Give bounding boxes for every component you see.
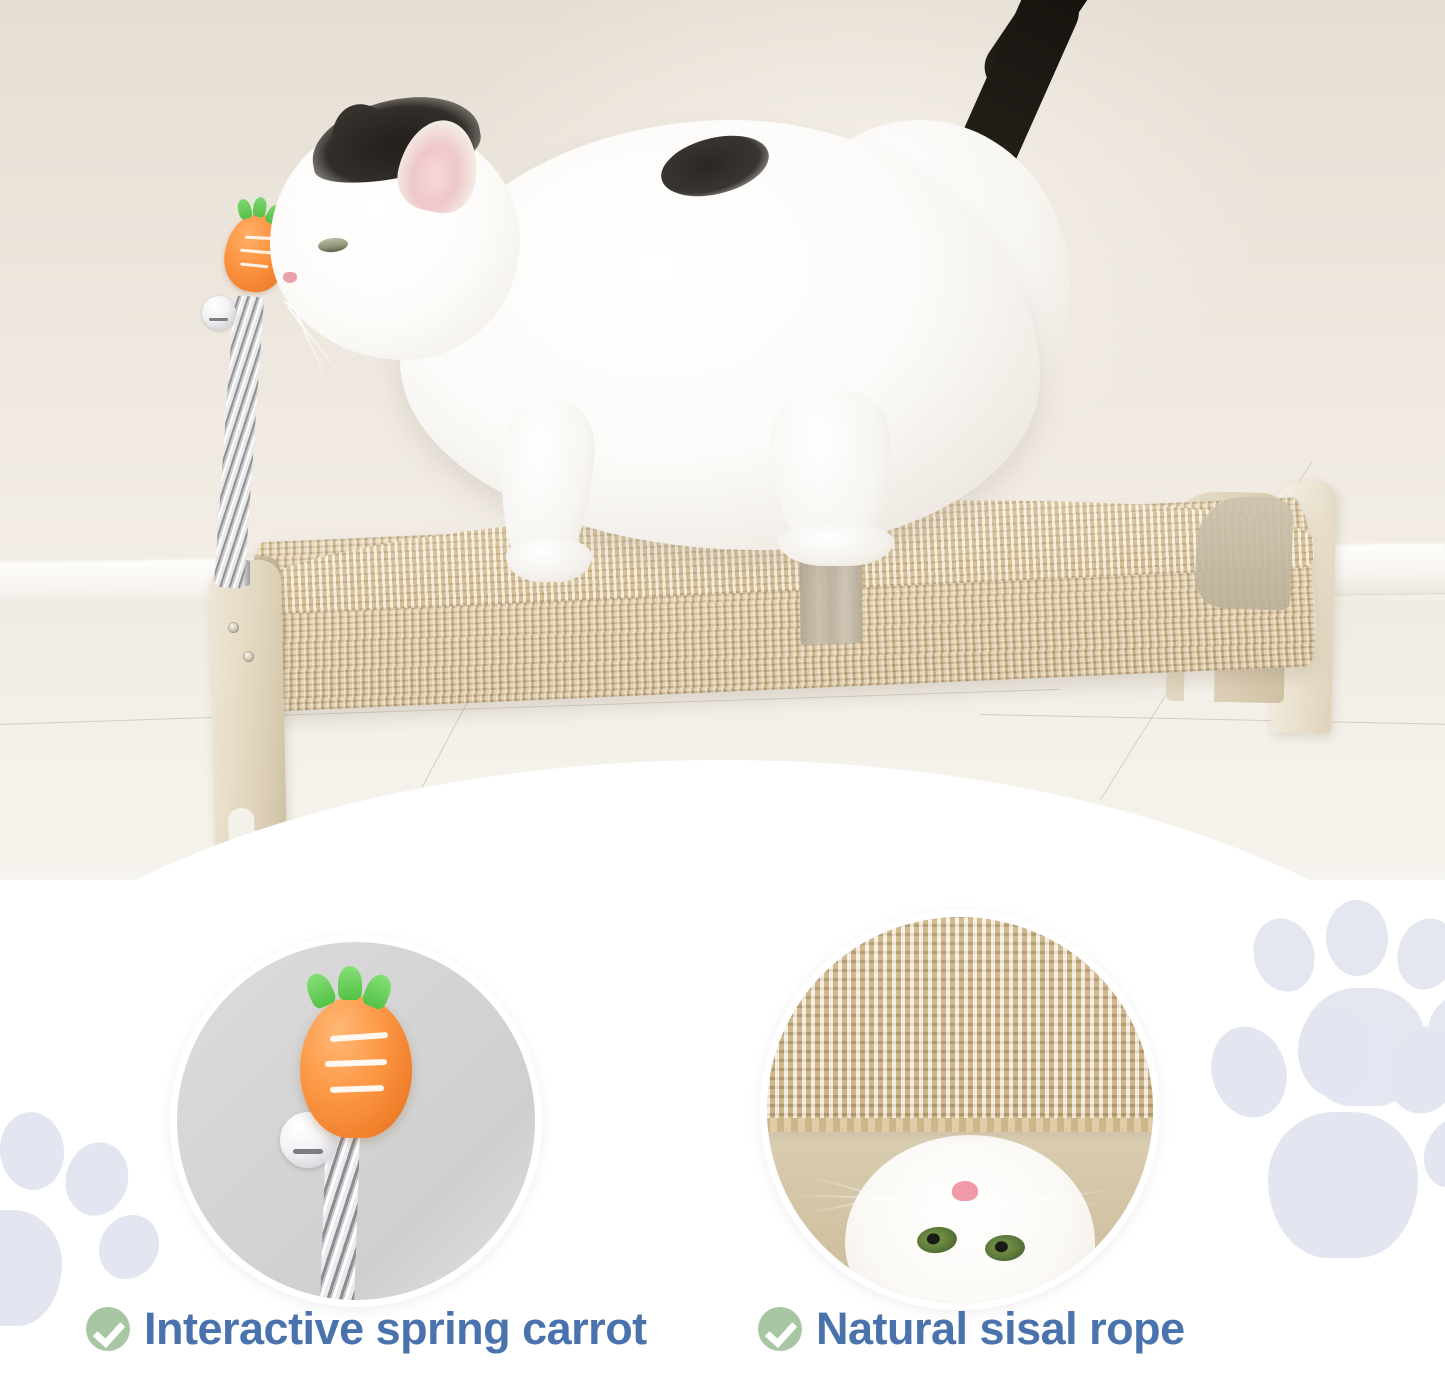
carrot-stitch-line — [325, 1059, 387, 1067]
carrot-stitch-line — [330, 1085, 384, 1093]
sisal-weave-detail — [760, 910, 1160, 1125]
paw-toe — [1245, 911, 1323, 999]
carrot-toy-detail-circle — [170, 935, 542, 1307]
feature-caption-sisal: Natural sisal rope — [758, 1306, 1185, 1351]
paw-toe — [58, 1136, 136, 1223]
carrot-leaf — [338, 966, 362, 1000]
pawprint-bottom-right — [1212, 1004, 1445, 1254]
paw-pad — [1268, 1112, 1418, 1258]
paw-toe — [1201, 1018, 1297, 1127]
product-image-canvas: Interactive spring carrot Natural sisal … — [0, 0, 1445, 1375]
paw-toe — [0, 1109, 68, 1193]
check-circle-icon — [86, 1307, 130, 1351]
cat-front-paw — [506, 538, 592, 582]
paw-toe — [1377, 1018, 1445, 1122]
carrot-toy-detail — [300, 996, 412, 1138]
sisal-mat-edge — [760, 1118, 1160, 1132]
feature-caption-sisal-label: Natural sisal rope — [816, 1306, 1185, 1351]
paw-toe — [1296, 1003, 1375, 1100]
check-circle-icon — [758, 1307, 802, 1351]
paw-pad — [0, 1210, 62, 1326]
pawprint-bottom-left — [0, 1118, 158, 1328]
cat-hind-paw — [778, 524, 894, 566]
main-product-photo — [0, 0, 1445, 960]
carrot-stitch-line — [330, 1032, 388, 1042]
paw-toe — [1389, 911, 1445, 996]
cat-nose — [283, 272, 297, 283]
feature-caption-carrot-label: Interactive spring carrot — [144, 1306, 647, 1351]
paw-toe — [1325, 899, 1390, 977]
feature-caption-carrot: Interactive spring carrot — [86, 1306, 647, 1351]
cat-nose — [952, 1181, 978, 1201]
sisal-rope-detail-circle — [760, 910, 1160, 1310]
